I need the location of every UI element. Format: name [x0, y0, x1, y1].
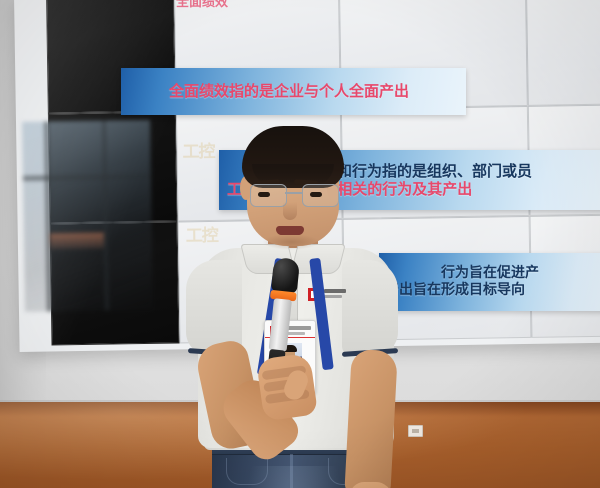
window-mullion	[44, 121, 52, 311]
glasses-bridge	[285, 192, 303, 194]
slide-text-box-1: 全面绩效指的是企业与个人全面产出	[121, 68, 466, 115]
logo-text-line	[324, 289, 346, 293]
nose	[283, 202, 297, 220]
jeans-fade-highlight	[246, 466, 342, 488]
slide-top-clipped-text: 全面绩效	[176, 0, 228, 10]
chin-shadow	[262, 234, 320, 250]
window-mullion	[102, 121, 109, 311]
eye	[310, 192, 322, 197]
right-arm	[344, 349, 398, 488]
video-wall-panel	[526, 0, 600, 106]
microphone-body	[269, 298, 292, 352]
slide-line: 全面绩效指的是企业与个人全面产出	[169, 82, 466, 100]
reflected-cityscape	[50, 233, 104, 250]
eye	[258, 192, 270, 197]
window-reflection-icon	[22, 120, 153, 312]
screenshot-scene: 工控 工控 工控 全面绩效 全面绩效指的是企业与个人全面产出 和行为指的是组织、…	[0, 0, 600, 488]
polo-sleeve-right	[342, 260, 398, 356]
male-speaker	[190, 118, 420, 488]
hair	[242, 126, 344, 188]
logo-text-line	[324, 295, 342, 298]
microphone-capsule	[271, 257, 300, 294]
window-mullion	[23, 174, 151, 181]
